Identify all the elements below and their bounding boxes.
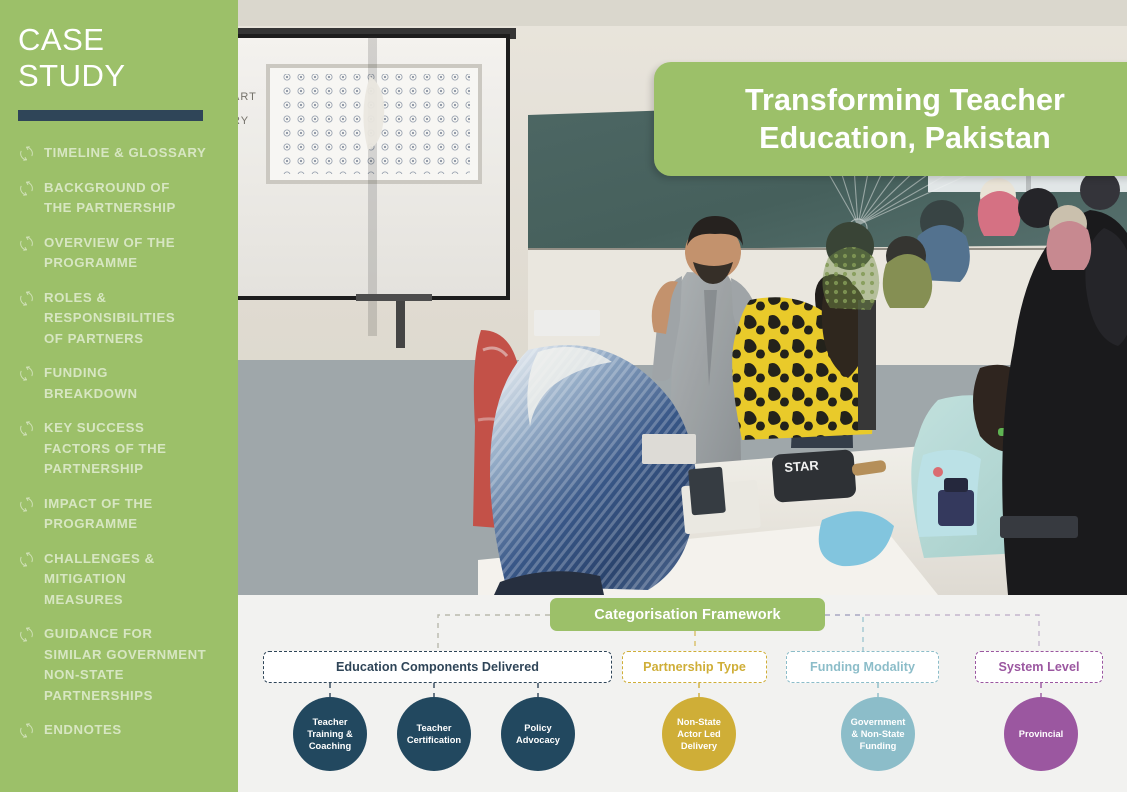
categorisation-framework: Categorisation Framework Education Compo… [238, 595, 1127, 792]
framework-circle-teacher-training[interactable]: Teacher Training & Coaching [293, 697, 367, 771]
framework-circle-non-state-actor-led-delivery[interactable]: Non-State Actor Led Delivery [662, 697, 736, 771]
sidebar-title: CASE STUDY [18, 22, 238, 94]
sidebar-item-label: FUNDING BREAKDOWN [44, 363, 138, 404]
framework-box-label: Partnership Type [643, 660, 746, 674]
cycle-arrows-icon [18, 180, 35, 197]
sidebar-item-5[interactable]: KEY SUCCESS FACTORS OF THE PARTNERSHIP [18, 418, 238, 480]
framework-box-label: System Level [998, 660, 1079, 674]
cycle-arrows-icon [18, 235, 35, 252]
sidebar-item-label: ROLES & RESPONSIBILITIES OF PARTNERS [44, 288, 175, 350]
sidebar-item-0[interactable]: TIMELINE & GLOSSARY [18, 143, 238, 164]
sidebar-item-6[interactable]: IMPACT OF THE PROGRAMME [18, 494, 238, 535]
framework-circle-label: Teacher Training & Coaching [303, 716, 356, 753]
framework-box-partnership-type[interactable]: Partnership Type [622, 651, 767, 683]
sidebar-item-9[interactable]: ENDNOTES [18, 720, 238, 741]
framework-circle-label: Provincial [1015, 728, 1067, 740]
sidebar-item-label: OVERVIEW OF THE PROGRAMME [44, 233, 175, 274]
sidebar-item-2[interactable]: OVERVIEW OF THE PROGRAMME [18, 233, 238, 274]
cycle-arrows-icon [18, 626, 35, 643]
sidebar-item-4[interactable]: FUNDING BREAKDOWN [18, 363, 238, 404]
framework-circle-label: Teacher Certification [403, 722, 465, 747]
cycle-arrows-icon [18, 290, 35, 307]
hero-title: Transforming Teacher Education, Pakistan [745, 81, 1065, 157]
framework-circle-teacher-certification[interactable]: Teacher Certification [397, 697, 471, 771]
framework-circle-label: Non-State Actor Led Delivery [673, 716, 725, 753]
cycle-arrows-icon [18, 365, 35, 382]
cycle-arrows-icon [18, 420, 35, 437]
sidebar-item-8[interactable]: GUIDANCE FOR SIMILAR GOVERNMENT NON-STAT… [18, 624, 238, 706]
framework-banner-label: Categorisation Framework [594, 607, 781, 623]
framework-circle-label: Policy Advocacy [512, 722, 564, 747]
sidebar: CASE STUDY TIMELINE & GLOSSARYBACKGROUND… [0, 0, 238, 792]
framework-circle-policy-advocacy[interactable]: Policy Advocacy [501, 697, 575, 771]
framework-banner: Categorisation Framework [550, 598, 825, 631]
cycle-arrows-icon [18, 722, 35, 739]
framework-box-label: Education Components Delivered [336, 660, 539, 674]
sidebar-item-1[interactable]: BACKGROUND OF THE PARTNERSHIP [18, 178, 238, 219]
sidebar-item-label: IMPACT OF THE PROGRAMME [44, 494, 153, 535]
sidebar-item-label: BACKGROUND OF THE PARTNERSHIP [44, 178, 176, 219]
case-study-slide: CASE STUDY TIMELINE & GLOSSARYBACKGROUND… [0, 0, 1127, 792]
sidebar-item-label: CHALLENGES & MITIGATION MEASURES [44, 549, 155, 611]
cycle-arrows-icon [18, 551, 35, 568]
sidebar-item-label: KEY SUCCESS FACTORS OF THE PARTNERSHIP [44, 418, 166, 480]
sidebar-item-7[interactable]: CHALLENGES & MITIGATION MEASURES [18, 549, 238, 611]
framework-circle-provincial[interactable]: Provincial [1004, 697, 1078, 771]
cycle-arrows-icon [18, 496, 35, 513]
cycle-arrows-icon [18, 145, 35, 162]
framework-circle-government-non-state-funding[interactable]: Government & Non-State Funding [841, 697, 915, 771]
sidebar-item-label: GUIDANCE FOR SIMILAR GOVERNMENT NON-STAT… [44, 624, 206, 706]
framework-circle-label: Government & Non-State Funding [847, 716, 910, 753]
sidebar-nav-list: TIMELINE & GLOSSARYBACKGROUND OF THE PAR… [18, 143, 238, 741]
framework-box-funding-modality[interactable]: Funding Modality [786, 651, 939, 683]
sidebar-item-label: TIMELINE & GLOSSARY [44, 143, 206, 164]
framework-box-system-level[interactable]: System Level [975, 651, 1103, 683]
title-divider [18, 110, 203, 121]
framework-box-education-components[interactable]: Education Components Delivered [263, 651, 612, 683]
hero-title-banner: Transforming Teacher Education, Pakistan [654, 62, 1127, 176]
sidebar-item-label: ENDNOTES [44, 720, 122, 741]
framework-box-label: Funding Modality [810, 660, 915, 674]
sidebar-item-3[interactable]: ROLES & RESPONSIBILITIES OF PARTNERS [18, 288, 238, 350]
